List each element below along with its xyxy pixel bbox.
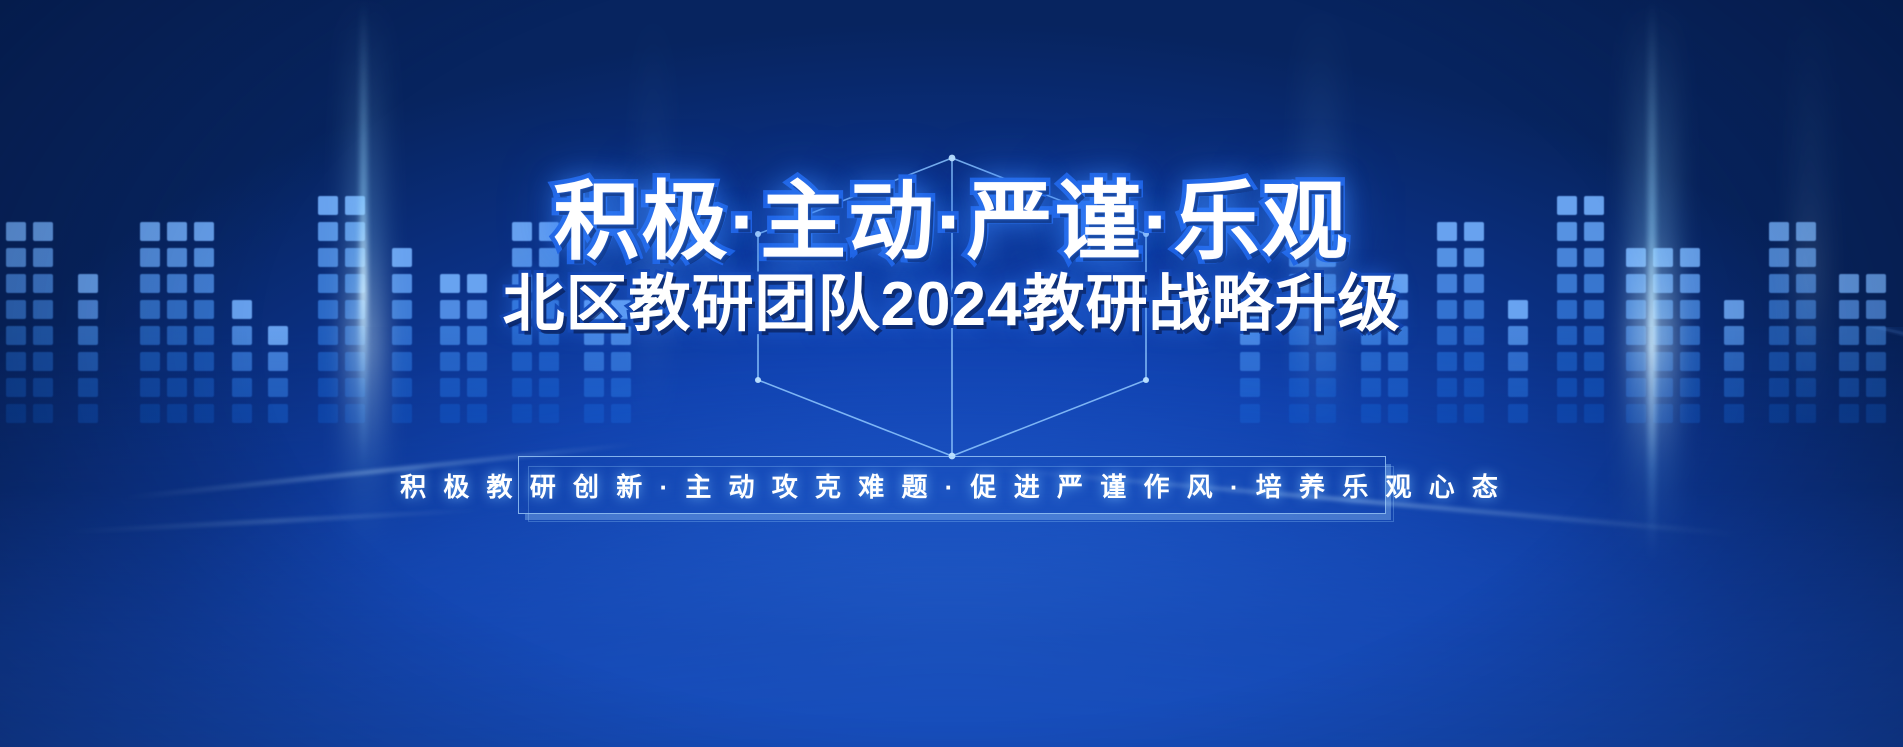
slogan-frame: 积 极 教 研 创 新 · 主 动 攻 克 难 题 · 促 进 严 谨 作 风 …: [518, 456, 1386, 514]
banner-title-sub: 北区教研团队2024教研战略升级: [0, 268, 1903, 342]
banner: 积极·主动·严谨·乐观 北区教研团队2024教研战略升级 积 极 教 研 创 新…: [0, 0, 1903, 747]
banner-title-main: 积极·主动·严谨·乐观: [0, 174, 1903, 270]
slogan-text: 积 极 教 研 创 新 · 主 动 攻 克 难 题 · 促 进 严 谨 作 风 …: [400, 467, 1503, 504]
banner-content: 积极·主动·严谨·乐观 北区教研团队2024教研战略升级 积 极 教 研 创 新…: [0, 0, 1903, 747]
